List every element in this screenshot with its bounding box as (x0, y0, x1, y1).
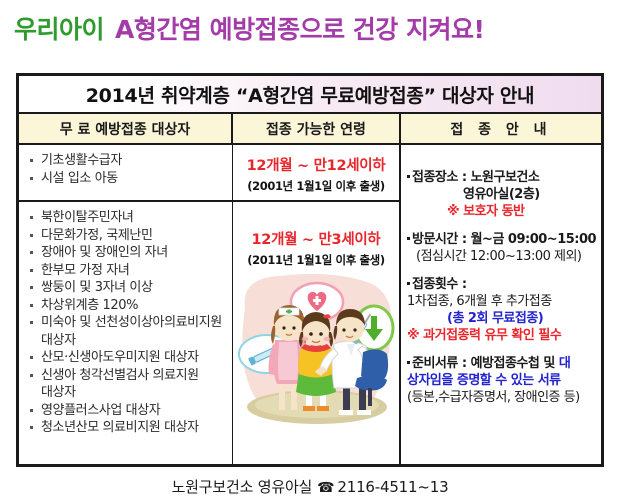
column-header-age: 접종 가능한 연령 (233, 114, 401, 143)
table-column-headers: 무 료 예방접종 대상자 접종 가능한 연령 접 종 안 내 (19, 114, 601, 145)
list-item: 북한이탈주민자녀 (29, 209, 228, 227)
list-item: 미숙아 및 선천성이상아의료비지원 (29, 314, 228, 332)
list-item: 장애아 및 장애인의 자녀 (29, 244, 228, 262)
list-item: 신생아 청각선별검사 의료지원 (29, 367, 228, 385)
doses-free-note: (총 2회 무료접종) (407, 310, 596, 327)
list-item: 한부모 가정 자녀 (29, 262, 228, 280)
vaccination-info-table: 2014년 취약계층 “A형간염 무료예방접종” 대상자 안내 무 료 예방접종… (16, 73, 604, 467)
headline-purple-text: A형간염 예방접종으로 건강 지켜요! (115, 10, 484, 46)
table-body: 기초생활수급자 시설 입소 아동 12개월 ~ 만12세이하 (2001년 1월… (19, 145, 601, 464)
doses-label: 접종횟수 : (407, 276, 596, 293)
target-list-row2: 북한이탈주민자녀 다문화가정, 국제난민 장애아 및 장애인의 자녀 한부모 가… (29, 209, 228, 437)
info-block-hours: 방문시간 : 월~금 09:00~15:00 (점심시간 12:00~13:00… (407, 231, 596, 265)
table-row: 기초생활수급자 시설 입소 아동 12개월 ~ 만12세이하 (2001년 1월… (19, 145, 399, 202)
list-item: 청소년산모 의료비지원 대상자 (29, 419, 228, 437)
table-left-block: 기초생활수급자 시설 입소 아동 12개월 ~ 만12세이하 (2001년 1월… (19, 145, 401, 464)
list-item: 차상위계층 120% (29, 297, 228, 315)
documents-label-accent: 대 (559, 356, 570, 371)
vaccination-illustration (235, 268, 398, 436)
guardian-note: ※ 보호자 동반 (407, 203, 596, 220)
target-cell-row1: 기초생활수급자 시설 입소 아동 (19, 145, 233, 200)
footer-phone-number: 2116-4511~13 (337, 478, 448, 496)
list-item: 쌍둥이 및 3자녀 이상 (29, 279, 228, 297)
age-cell-row2: 12개월 ~ 만3세이하 (2011년 1월1일 이후 출생) (233, 202, 399, 464)
footer-office: 노원구보건소 영유아실 (172, 478, 313, 496)
doses-line2: 1차접종, 6개월 후 추가접종 (407, 293, 596, 310)
place-label: 접종장소 : 노원구보건소 (407, 169, 596, 186)
footer-contact: 노원구보건소 영유아실☎2116-4511~13 (0, 476, 620, 497)
hours-line2: (점심시간 12:00~13:00 제외) (407, 248, 596, 265)
telephone-icon: ☎ (317, 480, 334, 496)
age-range-row2: 12개월 ~ 만3세이하 (233, 228, 399, 249)
column-header-guide: 접 종 안 내 (401, 114, 601, 143)
list-item: 시설 입소 아동 (29, 170, 228, 188)
age-cell-row1: 12개월 ~ 만12세이하 (2001년 1월1일 이후 출생) (233, 145, 399, 200)
documents-line2: 상자임을 증명할 수 있는 서류 (407, 372, 596, 389)
info-block-documents: 준비서류 : 예방접종수첩 및 대 상자임을 증명할 수 있는 서류 (등본,수… (407, 355, 596, 406)
table-row: 북한이탈주민자녀 다문화가정, 국제난민 장애아 및 장애인의 자녀 한부모 가… (19, 202, 399, 464)
birth-range-row2: (2011년 1월1일 이후 출생) (233, 252, 399, 268)
headline-green-text: 우리아이 (14, 10, 104, 46)
list-item: 산모·신생아도우미지원 대상자 (29, 349, 228, 367)
list-item-continuation: 대상자 (29, 332, 228, 350)
birth-range-row1: (2001년 1월1일 이후 출생) (233, 178, 399, 194)
info-block-doses: 접종횟수 : 1차접종, 6개월 후 추가접종 (총 2회 무료접종) ※ 과거… (407, 276, 596, 344)
page-headline: 우리아이 A형간염 예방접종으로 건강 지켜요! (14, 8, 606, 48)
info-block-place: 접종장소 : 노원구보건소 영유아실(2층) ※ 보호자 동반 (407, 169, 596, 220)
hours-label: 방문시간 : 월~금 09:00~15:00 (407, 231, 596, 248)
documents-line3: (등본,수급자증명서, 장애인증 등) (407, 389, 596, 406)
list-item: 다문화가정, 국제난민 (29, 227, 228, 245)
list-item: 기초생활수급자 (29, 152, 228, 170)
target-list-row1: 기초생활수급자 시설 입소 아동 (29, 152, 228, 187)
age-range-row1: 12개월 ~ 만12세이하 (233, 154, 399, 175)
table-title: 2014년 취약계층 “A형간염 무료예방접종” 대상자 안내 (19, 76, 601, 114)
list-item: 영양플러스사업 대상자 (29, 402, 228, 420)
documents-label-text: 준비서류 : 예방접종수첩 및 (412, 356, 559, 371)
column-header-target: 무 료 예방접종 대상자 (19, 114, 233, 143)
documents-label: 준비서류 : 예방접종수첩 및 대 (407, 355, 596, 372)
list-item-continuation: 대상자 (29, 384, 228, 402)
history-check-note: ※ 과거접종력 유무 확인 필수 (407, 327, 596, 344)
vaccination-guide-cell: 접종장소 : 노원구보건소 영유아실(2층) ※ 보호자 동반 방문시간 : 월… (401, 145, 601, 464)
place-line2: 영유아실(2층) (407, 186, 596, 203)
target-cell-row2: 북한이탈주민자녀 다문화가정, 국제난민 장애아 및 장애인의 자녀 한부모 가… (19, 202, 233, 464)
